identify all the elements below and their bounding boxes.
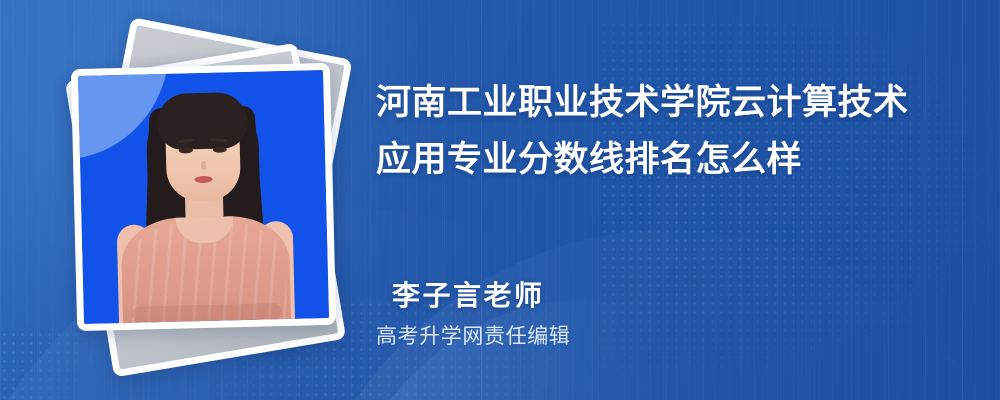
- teacher-portrait-image: [78, 70, 329, 324]
- banner-title-line-2: 应用专业分数线排名怎么样: [376, 131, 976, 188]
- author-role: 高考升学网责任编辑: [376, 320, 570, 350]
- portrait-nose: [201, 161, 206, 170]
- author-name: 李子言老师: [392, 274, 545, 314]
- banner-title: 河南工业职业技术学院云计算技术 应用专业分数线排名怎么样: [376, 74, 976, 188]
- portrait-eye-left: [178, 147, 192, 153]
- portrait-hair-front: [156, 92, 247, 150]
- banner-text-column: 河南工业职业技术学院云计算技术 应用专业分数线排名怎么样 李子言老师 高考升学网…: [376, 0, 976, 400]
- portrait-dress-waist: [131, 303, 281, 323]
- article-cover-banner: 河南工业职业技术学院云计算技术 应用专业分数线排名怎么样 李子言老师 高考升学网…: [0, 0, 1000, 400]
- portrait-eye-right: [212, 146, 226, 152]
- photo-card-stack: [60, 38, 345, 363]
- photo-card-front: [71, 63, 336, 331]
- banner-title-line-1: 河南工业职业技术学院云计算技术: [376, 74, 976, 131]
